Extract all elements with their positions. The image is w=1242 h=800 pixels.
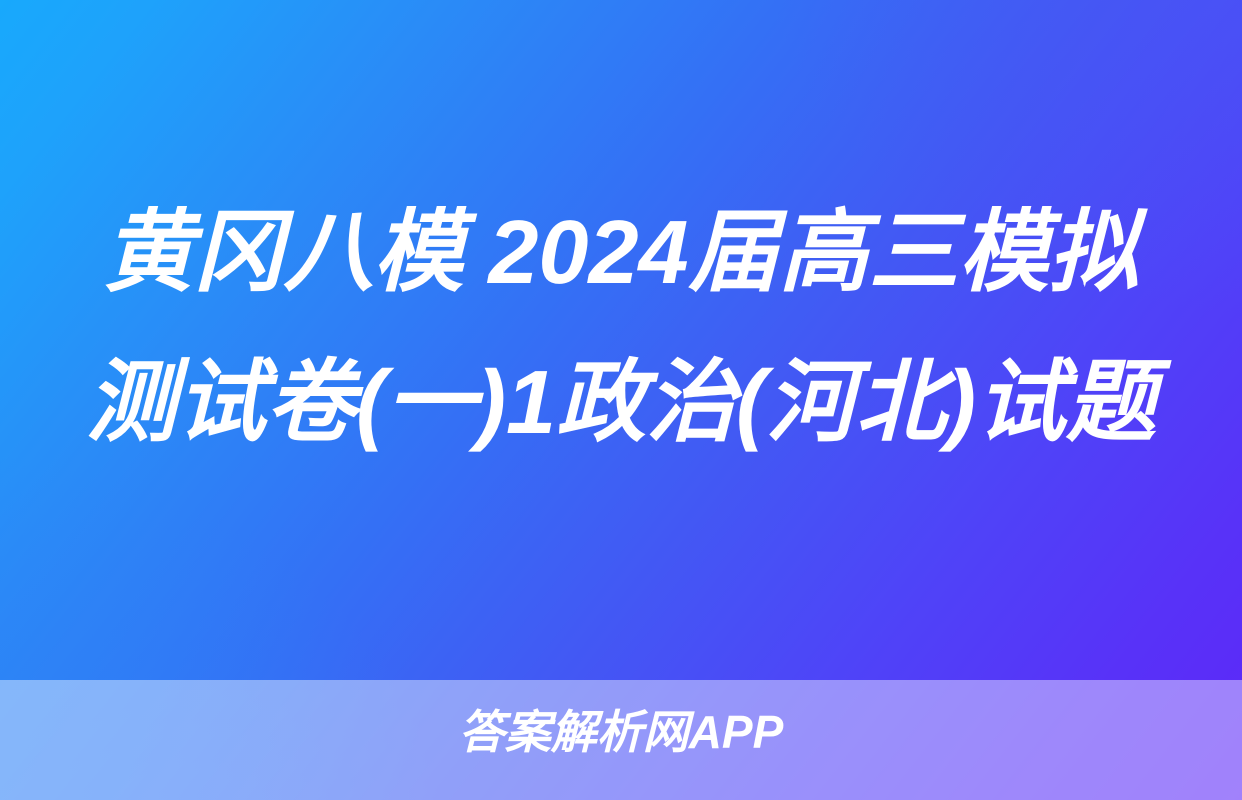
- poster-canvas: 黄冈八模 2024届高三模拟测试卷(一)1政治(河北)试题 答案解析网APP: [0, 0, 1242, 800]
- poster-title: 黄冈八模 2024届高三模拟测试卷(一)1政治(河北)试题: [72, 178, 1170, 478]
- watermark-brand-label: 答案解析网APP: [0, 704, 1242, 760]
